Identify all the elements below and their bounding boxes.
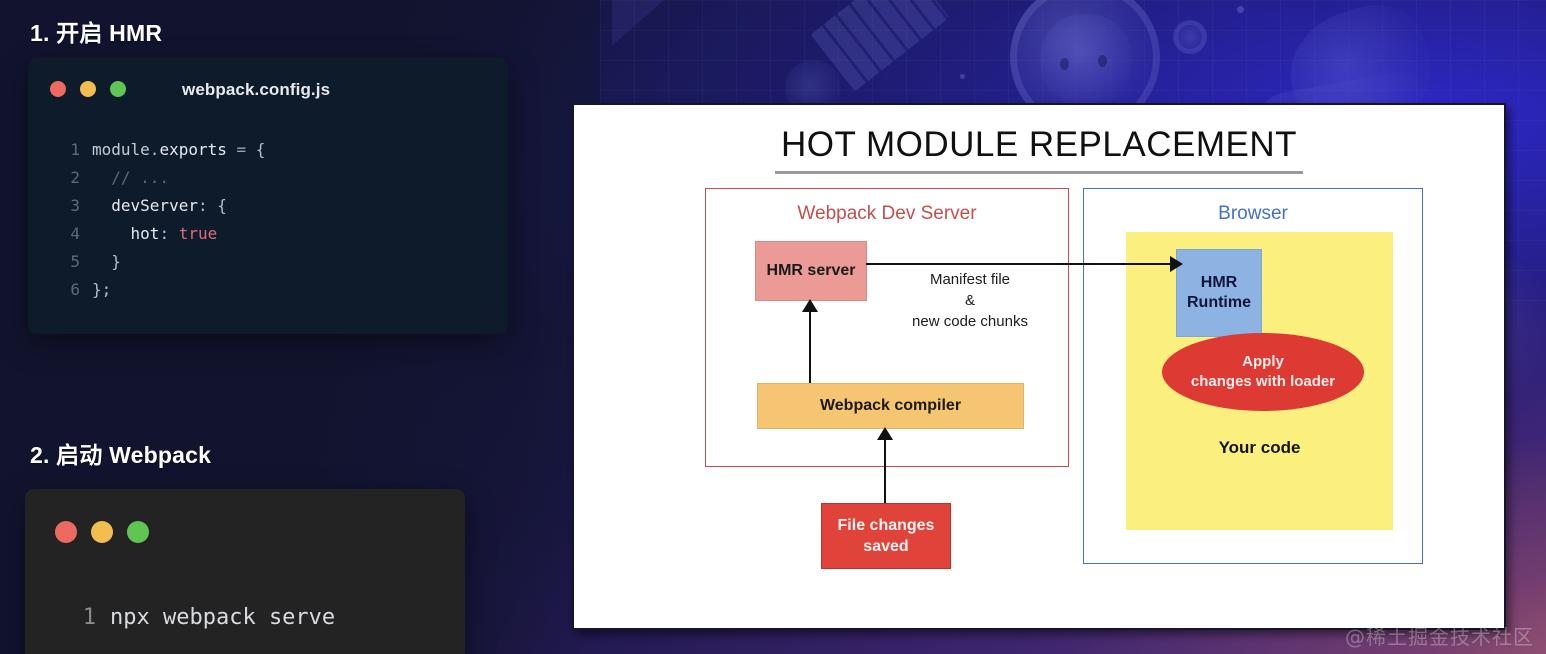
code-content-webpack-config: 1module.exports = {2 // ...3 devServer: … [62, 136, 265, 304]
line-number: 6 [62, 276, 80, 304]
window-traffic-lights [50, 81, 126, 97]
hmr-runtime-line1: HMR [1187, 273, 1251, 293]
manifest-note-line1: Manifest file [870, 269, 1070, 290]
watermark: @稀土掘金技术社区 [1345, 621, 1534, 650]
code-token [92, 224, 131, 243]
maximize-button-icon[interactable] [127, 521, 149, 543]
code-line: 6}; [62, 276, 265, 304]
code-line: 1module.exports = { [62, 136, 265, 164]
code-line: 2 // ... [62, 164, 265, 192]
your-code-label: Your code [1126, 435, 1393, 461]
browser-label: Browser [1084, 203, 1422, 225]
terminal-traffic-lights [55, 521, 149, 543]
minimize-button-icon[interactable] [91, 521, 113, 543]
close-button-icon[interactable] [50, 81, 66, 97]
code-token [92, 252, 111, 271]
manifest-note-line2: & [870, 290, 1070, 311]
arrow-hmr-server-to-runtime-line [866, 263, 1177, 265]
close-button-icon[interactable] [55, 521, 77, 543]
code-token [92, 196, 111, 215]
hmr-runtime-line2: Runtime [1187, 293, 1251, 313]
hmr-runtime-box: HMR Runtime [1176, 249, 1262, 337]
diagram-title: HOT MODULE REPLACEMENT [574, 125, 1504, 165]
code-line: 4 hot: true [62, 220, 265, 248]
step-2-heading: 2. 启动 Webpack [30, 436, 211, 470]
line-number: 4 [62, 220, 80, 248]
line-number: 5 [62, 248, 80, 276]
code-token: true [179, 224, 218, 243]
manifest-note-line3: new code chunks [870, 311, 1070, 332]
code-token: } [111, 252, 121, 271]
arrow-file-changes-to-compiler-head [877, 427, 893, 440]
screenshot-root: 1. 开启 HMR webpack.config.js 1module.expo… [0, 0, 1546, 654]
arrow-compiler-to-hmr-server-head [802, 299, 818, 312]
line-number: 2 [62, 164, 80, 192]
apply-changes-line1: Apply [1191, 352, 1335, 372]
file-changes-saved-box: File changes saved [821, 503, 951, 569]
file-changes-line1: File changes [838, 515, 935, 536]
code-token: // ... [111, 168, 169, 187]
line-number: 1 [62, 136, 80, 164]
manifest-note: Manifest file & new code chunks [870, 269, 1070, 332]
code-line: 5 } [62, 248, 265, 276]
code-token: hot [131, 224, 160, 243]
webpack-compiler-box: Webpack compiler [757, 383, 1024, 429]
minimize-button-icon[interactable] [80, 81, 96, 97]
code-token [92, 168, 111, 187]
maximize-button-icon[interactable] [110, 81, 126, 97]
file-changes-line2: saved [838, 536, 935, 557]
code-line: 1npx webpack serve [82, 602, 335, 634]
code-token: npx webpack serve [110, 605, 335, 630]
code-token: devServer [111, 196, 198, 215]
diagram-title-text: HOT MODULE REPLACEMENT [775, 125, 1303, 174]
code-token: = [237, 140, 247, 159]
code-token: . [150, 140, 160, 159]
line-number: 1 [82, 602, 96, 634]
code-token: : [198, 196, 217, 215]
arrow-hmr-server-to-runtime-head [1170, 256, 1183, 272]
arrow-compiler-to-hmr-server-line [809, 311, 811, 383]
code-window-filename: webpack.config.js [182, 80, 330, 100]
webpack-dev-server-label: Webpack Dev Server [706, 203, 1068, 225]
code-token: }; [92, 280, 111, 299]
terminal-command-line: 1npx webpack serve [82, 602, 335, 634]
hmr-diagram: HOT MODULE REPLACEMENT Webpack Dev Serve… [572, 103, 1506, 630]
apply-changes-oval: Apply changes with loader [1162, 333, 1364, 411]
hmr-server-box: HMR server [755, 241, 867, 301]
step-1-heading: 1. 开启 HMR [30, 14, 162, 48]
code-line: 3 devServer: { [62, 192, 265, 220]
code-token [246, 140, 256, 159]
code-token: : [159, 224, 178, 243]
code-token: { [217, 196, 227, 215]
code-token: exports [159, 140, 226, 159]
code-token [227, 140, 237, 159]
arrow-file-changes-to-compiler-line [884, 439, 886, 503]
line-number: 3 [62, 192, 80, 220]
apply-changes-line2: changes with loader [1191, 372, 1335, 392]
code-token: { [256, 140, 266, 159]
code-token: module [92, 140, 150, 159]
